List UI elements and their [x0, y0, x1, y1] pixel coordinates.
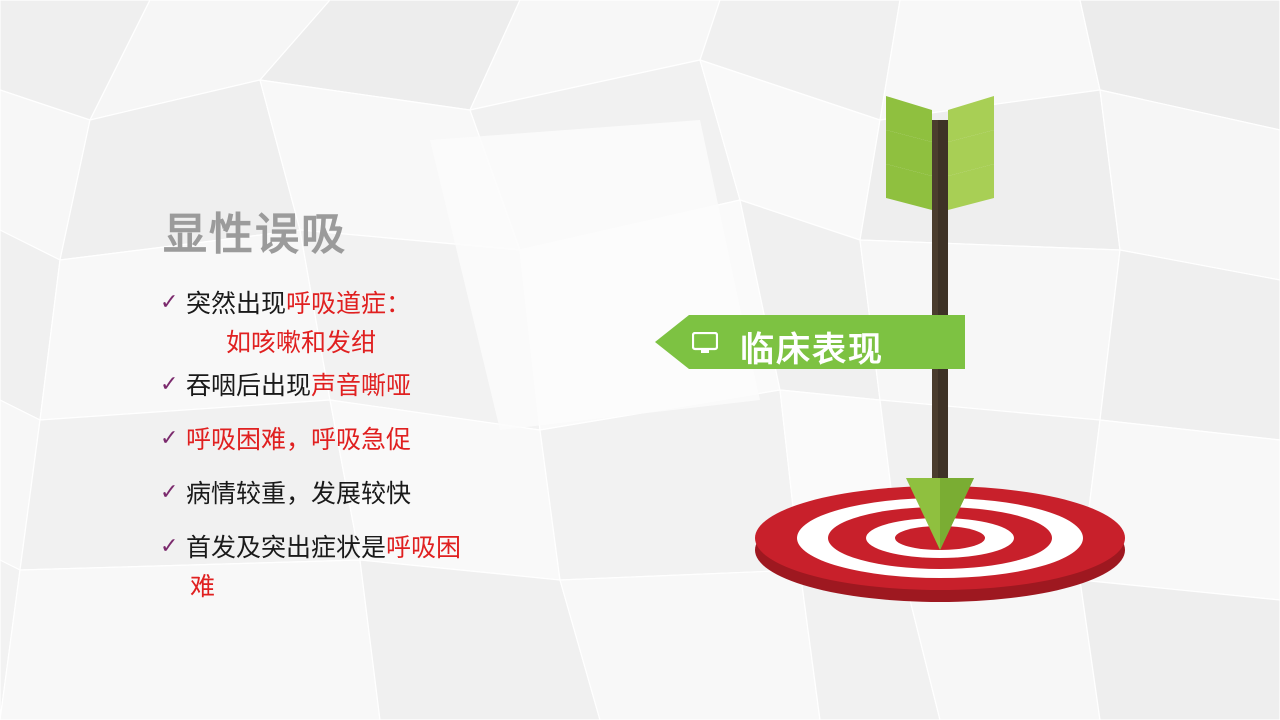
list-item-segment: 首发及突出症状是 — [186, 533, 386, 562]
list-item: ✓ 突然出现呼吸道症： — [160, 288, 610, 320]
bullet-list: ✓ 突然出现呼吸道症： 如咳嗽和发绀 ✓ 吞咽后出现声音嘶哑 ✓ 呼吸困难，呼吸… — [160, 288, 610, 604]
list-item-label: 首发及突出症状是呼吸困 — [186, 532, 461, 564]
list-item-segment: 突然出现 — [186, 289, 286, 318]
list-item-label: 突然出现呼吸道症： — [186, 288, 411, 320]
list-item: ✓ 病情较重，发展较快 — [160, 478, 610, 510]
list-item-label: 病情较重，发展较快 — [186, 478, 411, 510]
list-item: ✓ 首发及突出症状是呼吸困 — [160, 532, 610, 564]
list-item-label: 呼吸困难，呼吸急促 — [186, 424, 411, 456]
monitor-icon — [692, 332, 718, 354]
banner-label: 临床表现 — [740, 322, 884, 371]
list-item: ✓ 呼吸困难，呼吸急促 — [160, 424, 610, 456]
check-icon: ✓ — [160, 370, 186, 400]
list-item-segment: 吞咽后出现 — [186, 371, 311, 400]
check-icon: ✓ — [160, 478, 186, 508]
list-item-segment: 病情较重，发展较快 — [186, 479, 411, 508]
list-item: ✓ 吞咽后出现声音嘶哑 — [160, 370, 610, 402]
list-item-wrap: 难 — [190, 570, 610, 604]
list-item-label: 吞咽后出现声音嘶哑 — [186, 370, 411, 402]
slide-canvas: 显性误吸 ✓ 突然出现呼吸道症： 如咳嗽和发绀 ✓ 吞咽后出现声音嘶哑 ✓ 呼吸… — [0, 0, 1280, 720]
list-item-segment: 呼吸困难，呼吸急促 — [186, 425, 411, 454]
list-item-continuation: 如咳嗽和发绀 — [226, 326, 610, 360]
list-item-segment: 呼吸道症： — [286, 289, 411, 318]
check-icon: ✓ — [160, 288, 186, 318]
check-icon: ✓ — [160, 424, 186, 454]
list-item-segment: 声音嘶哑 — [311, 371, 411, 400]
page-title: 显性误吸 — [163, 198, 347, 262]
list-item-segment: 呼吸困 — [386, 533, 461, 562]
check-icon: ✓ — [160, 532, 186, 562]
